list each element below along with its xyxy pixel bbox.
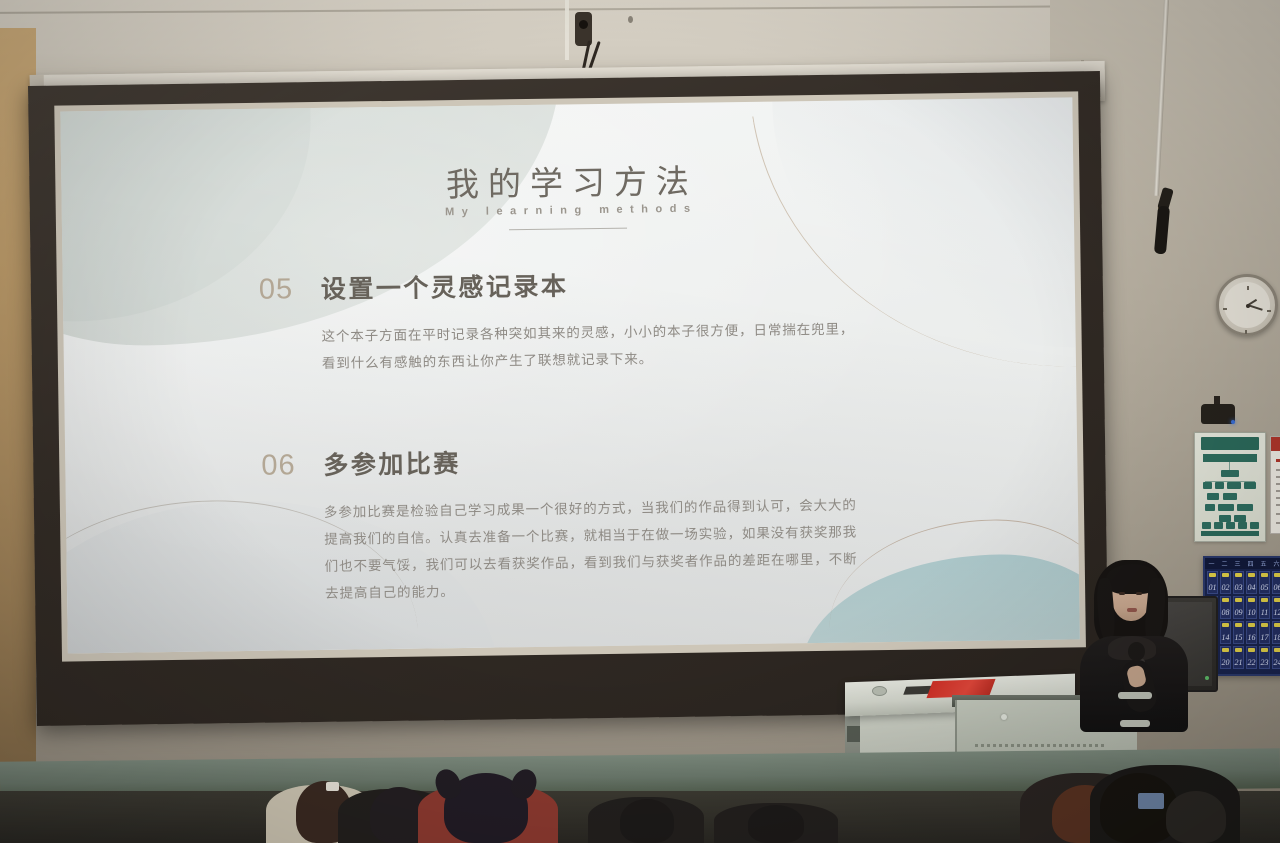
clock-center-pin [1246,304,1250,308]
chart-node [1234,515,1246,522]
poster-text-line [1276,522,1280,524]
clock-tick [1247,286,1249,290]
poster-text-line [1276,469,1280,471]
security-camera [1201,404,1235,424]
slide-section-05: 05 设置一个灵感记录本 这个本子方面在平时记录各种突如其来的灵感，小小的本子很… [259,261,966,378]
section-number: 05 [259,273,321,307]
poster-text-line [1276,497,1280,499]
calendar-weekday: 三 [1234,559,1240,568]
chart-node [1218,504,1234,511]
ceiling-strip [565,0,569,60]
presentation-slide: 我的学习方法 My learning methods 05 设置一个灵感记录本 … [60,97,1079,653]
phone-screen-icon [1138,793,1164,809]
projection-screen: 我的学习方法 My learning methods 05 设置一个灵感记录本 … [28,71,1109,726]
camera-led-icon [1231,420,1235,424]
poster-header-band [1201,437,1259,450]
chart-node [1214,522,1223,529]
slide-section-06: 06 多参加比赛 多参加比赛是检验自己学习成果一个很好的方式，当我们的作品得到认… [261,437,969,608]
calendar-day-cell: 24 [1272,646,1280,669]
microphone-head-icon [1128,642,1145,661]
calendar-day-cell: 21 [1233,646,1244,669]
presenter-eye [1136,592,1142,595]
calendar-day-cell: 06 [1272,571,1280,594]
chart-node [1219,515,1231,522]
calendar-day-cell: 15 [1233,621,1244,644]
slide-content: 我的学习方法 My learning methods 05 设置一个灵感记录本 … [60,97,1079,653]
chart-node [1238,522,1247,529]
chart-node [1226,522,1235,529]
chart-node [1207,493,1219,500]
calendar-day-cell: 08 [1220,596,1231,619]
wall-clock [1216,274,1278,336]
clock-tick [1245,330,1247,334]
calendar-day-cell: 12 [1272,596,1280,619]
poster-text-line [1276,459,1280,462]
chart-node [1215,482,1224,489]
calendar-day-cell: 04 [1246,571,1257,594]
lectern-grommet [872,686,887,696]
calendar-day-cell: 01 [1207,571,1218,594]
presenter-mouth [1127,608,1137,612]
calendar-day-cell: 03 [1233,571,1244,594]
chart-node [1202,522,1211,529]
calendar-day-cell: 18 [1272,621,1280,644]
poster-text-line [1276,504,1280,506]
poster-text-line [1276,490,1280,492]
audience-head [748,805,804,843]
poster-text-line [1276,476,1280,478]
clock-tick [1267,310,1271,312]
chart-node [1250,522,1259,529]
title-divider [509,228,627,231]
poster-subtitle-band [1203,454,1257,462]
chart-connector [1229,462,1230,470]
section-title: 多参加比赛 [323,444,461,482]
clock-tick [1223,308,1227,310]
calendar-weekday: 六 [1273,559,1279,568]
chart-node [1203,482,1212,489]
calendar-day-cell: 23 [1259,646,1270,669]
calendar-day-cell: 22 [1246,646,1257,669]
calendar-day-cell: 02 [1220,571,1231,594]
calendar-day-cell: 14 [1220,621,1231,644]
poster-footer-band [1201,531,1259,536]
calendar-day-cell: 10 [1246,596,1257,619]
section-number: 06 [261,449,323,483]
presenter-eye [1119,592,1125,595]
section-heading-row: 05 设置一个灵感记录本 [259,261,965,307]
section-body: 多参加比赛是检验自己学习成果一个很好的方式，当我们的作品得到认可，会大大的提高我… [324,491,870,607]
calendar-day-cell: 17 [1259,621,1270,644]
poster-text-line [1276,483,1280,485]
wall-fixture-dot [628,16,633,23]
calendar-day-cell: 09 [1233,596,1244,619]
calendar-weekday: 四 [1247,559,1253,568]
chart-node [1244,482,1256,489]
chart-node [1205,504,1215,511]
org-chart-poster [1194,432,1266,542]
mount-lens-icon [579,20,588,29]
calendar-day-cell: 05 [1259,571,1270,594]
classroom-scene: 一 二 三 四 五 六 0102030405060708091011121314… [0,0,1280,843]
calendar-day-cell: 20 [1220,646,1231,669]
audience [0,713,1280,843]
section-body: 这个本子方面在平时记录各种突如其来的灵感，小小的本子很方便，日常揣在兜里，看到什… [321,315,867,377]
notice-poster [1270,436,1280,534]
coat-toggle [1118,692,1152,699]
poster-text-line [1276,513,1280,515]
chart-node [1223,493,1237,500]
chart-node [1221,470,1239,477]
audience-head [1166,791,1226,843]
section-title: 设置一个灵感记录本 [321,266,569,305]
calendar-day-cell: 11 [1259,596,1270,619]
presenter [1068,552,1200,732]
hair-clip-icon [326,782,339,791]
audience-head [620,799,674,843]
poster-header-band [1271,437,1280,451]
calendar-weekday: 一 [1208,559,1214,568]
chart-node [1227,482,1241,489]
calendar-weekday: 二 [1221,559,1227,568]
calendar-day-cell: 16 [1246,621,1257,644]
monitor-power-led-icon [1205,676,1209,680]
calendar-weekday: 五 [1260,559,1266,568]
section-heading-row: 06 多参加比赛 [261,437,967,483]
clock-face [1224,282,1270,328]
calendar-weekday-header: 一 二 三 四 五 六 [1205,558,1280,569]
chart-node [1237,504,1253,511]
